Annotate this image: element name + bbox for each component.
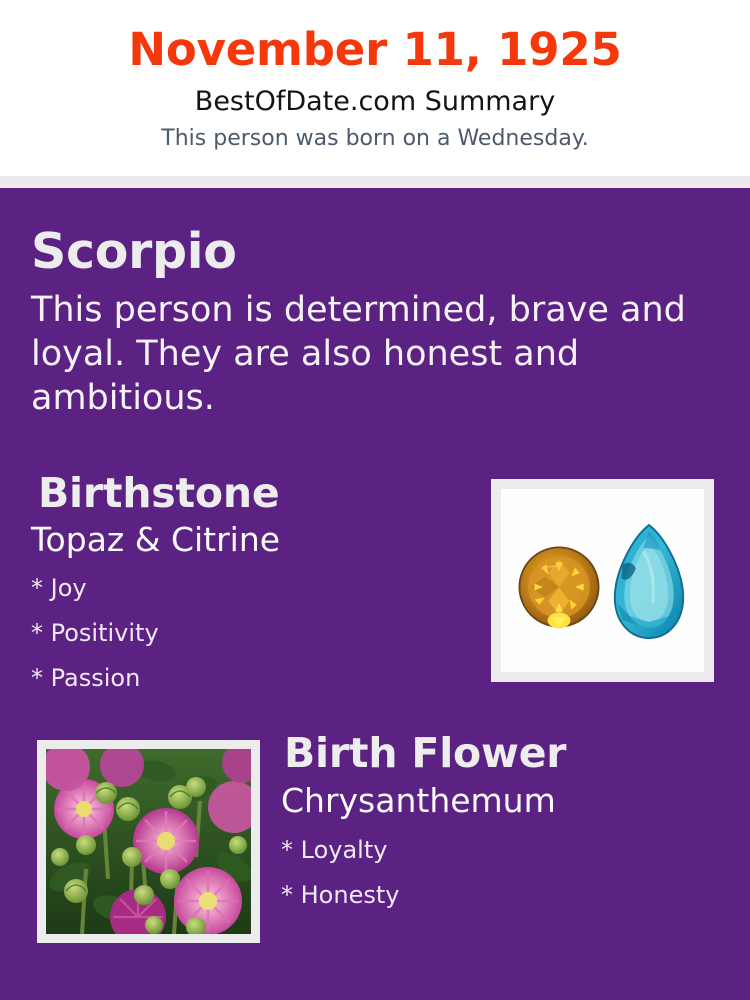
zodiac-sign-name: Scorpio bbox=[31, 227, 237, 276]
list-item: * Joy bbox=[31, 576, 159, 600]
chrysanthemum-photo-icon bbox=[46, 749, 251, 934]
details-panel: Scorpio This person is determined, brave… bbox=[0, 188, 750, 1000]
list-item: * Loyalty bbox=[281, 838, 399, 862]
birth-flower-image bbox=[46, 749, 251, 934]
list-item: * Passion bbox=[31, 666, 159, 690]
birthstone-name: Topaz & Citrine bbox=[31, 522, 280, 558]
site-summary-label: BestOfDate.com Summary bbox=[195, 86, 555, 118]
birthstone-trait-list: * Joy * Positivity * Passion bbox=[31, 576, 159, 711]
citrine-gem-icon bbox=[515, 543, 603, 631]
birthstone-heading: Birthstone bbox=[38, 473, 279, 514]
birth-flower-name: Chrysanthemum bbox=[281, 783, 556, 819]
list-item: * Honesty bbox=[281, 883, 399, 907]
birthstone-image bbox=[501, 489, 704, 672]
blue-topaz-gem-icon bbox=[611, 523, 687, 641]
birth-flower-trait-list: * Loyalty * Honesty bbox=[281, 838, 399, 928]
header: November 11, 1925 BestOfDate.com Summary… bbox=[0, 0, 750, 176]
birth-flower-image-frame bbox=[37, 740, 260, 943]
born-day-note: This person was born on a Wednesday. bbox=[161, 126, 588, 152]
page-title: November 11, 1925 bbox=[128, 26, 621, 75]
birthstone-image-frame bbox=[491, 479, 714, 682]
list-item: * Positivity bbox=[31, 621, 159, 645]
birth-flower-heading: Birth Flower bbox=[284, 733, 566, 774]
summary-card: November 11, 1925 BestOfDate.com Summary… bbox=[0, 0, 750, 1000]
zodiac-description: This person is determined, brave and loy… bbox=[31, 288, 701, 420]
